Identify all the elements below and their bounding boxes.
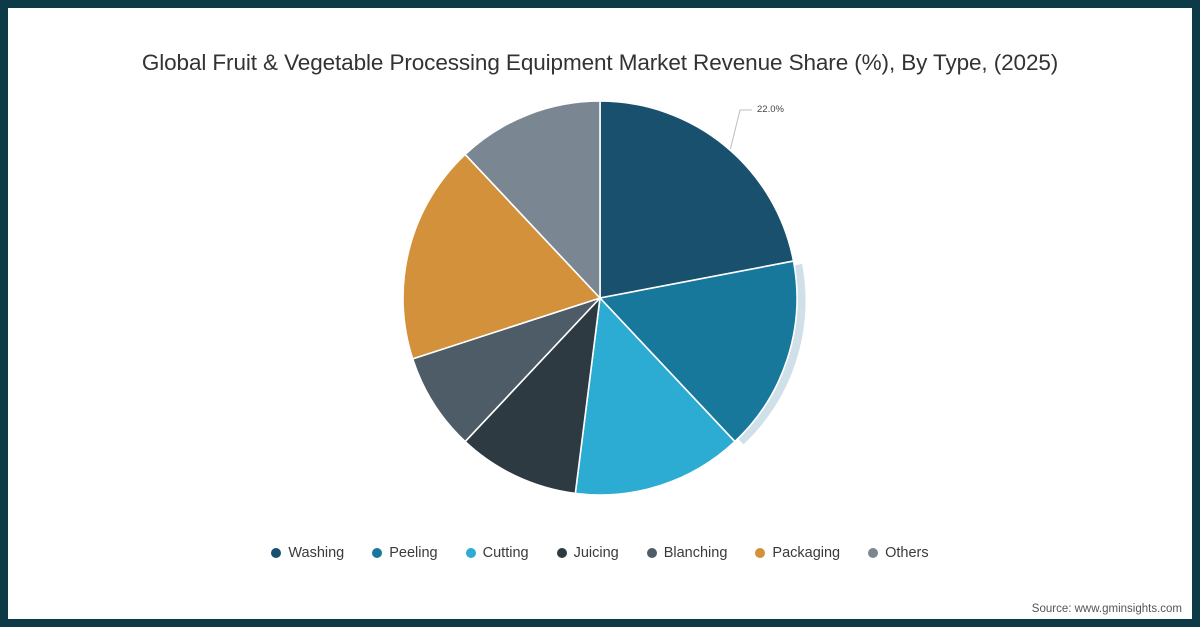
- legend-item-label: Juicing: [574, 545, 619, 561]
- legend-item-label: Others: [885, 545, 929, 561]
- legend-item-packaging[interactable]: Packaging: [755, 545, 840, 561]
- legend-swatch-icon: [557, 548, 567, 558]
- legend-swatch-icon: [271, 548, 281, 558]
- pie-chart-area: 22.0%: [0, 0, 1200, 540]
- legend-item-label: Blanching: [664, 545, 728, 561]
- chart-legend: WashingPeelingCuttingJuicingBlanchingPac…: [0, 545, 1200, 561]
- legend-swatch-icon: [647, 548, 657, 558]
- legend-swatch-icon: [466, 548, 476, 558]
- legend-item-label: Cutting: [483, 545, 529, 561]
- chart-canvas: Global Fruit & Vegetable Processing Equi…: [0, 0, 1200, 627]
- pie-slice-group: [403, 101, 797, 495]
- legend-swatch-icon: [755, 548, 765, 558]
- legend-swatch-icon: [372, 548, 382, 558]
- legend-swatch-icon: [868, 548, 878, 558]
- leader-line: [730, 110, 752, 149]
- legend-item-washing[interactable]: Washing: [271, 545, 344, 561]
- data-label-washing: 22.0%: [757, 104, 784, 115]
- pie-chart-svg: 22.0%: [340, 70, 860, 530]
- legend-item-label: Washing: [288, 545, 344, 561]
- legend-item-blanching[interactable]: Blanching: [647, 545, 728, 561]
- legend-item-label: Packaging: [772, 545, 840, 561]
- legend-item-others[interactable]: Others: [868, 545, 929, 561]
- legend-item-cutting[interactable]: Cutting: [466, 545, 529, 561]
- legend-item-label: Peeling: [389, 545, 437, 561]
- legend-item-juicing[interactable]: Juicing: [557, 545, 619, 561]
- source-note: Source: www.gminsights.com: [1032, 603, 1182, 615]
- legend-item-peeling[interactable]: Peeling: [372, 545, 437, 561]
- data-label-group: 22.0%: [730, 104, 784, 149]
